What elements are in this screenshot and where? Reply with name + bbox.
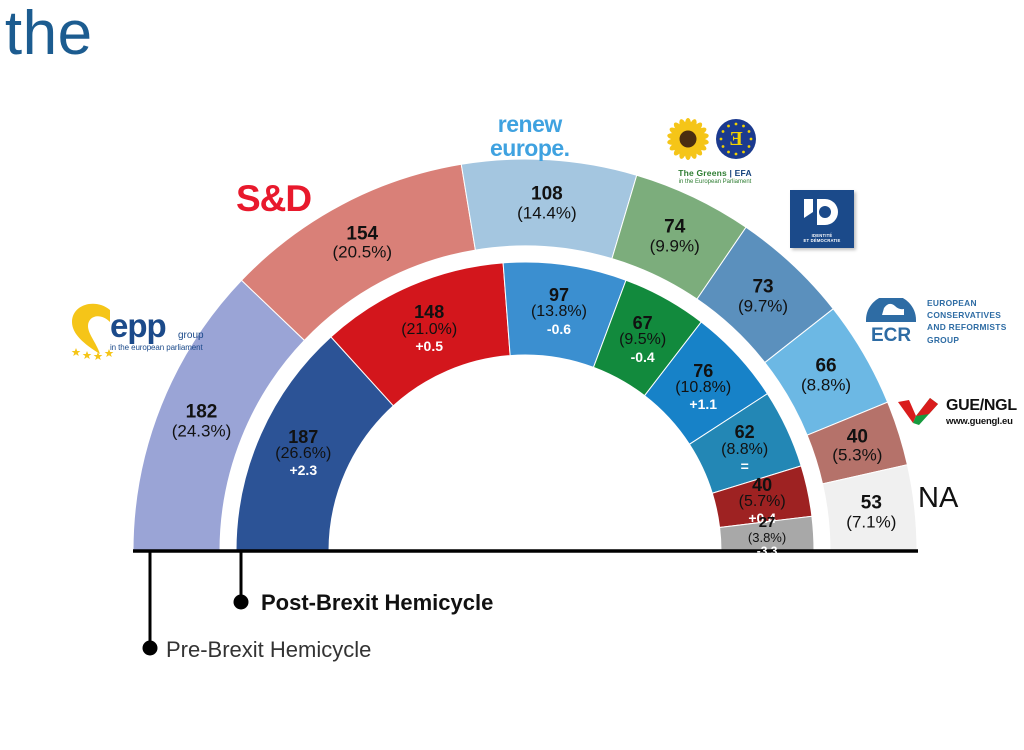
sd-logo: S&D <box>236 178 311 220</box>
ecr-logo: ECR EUROPEAN CONSERVATIVES AND REFORMIST… <box>862 297 1007 346</box>
ecr-logo-text: EUROPEAN CONSERVATIVES AND REFORMISTS GR… <box>927 297 1007 346</box>
na-label: NA <box>918 482 958 515</box>
gue-logo-text: GUE/NGL www.guengl.eu <box>946 398 1017 427</box>
segment-outer-renew-europe[interactable] <box>461 159 636 259</box>
renew-logo-line1: renew <box>490 112 570 136</box>
leader-dot-post <box>234 595 249 610</box>
greens-logo-title: The Greens | EFA <box>660 168 770 178</box>
epp-logo-group: group <box>178 330 204 341</box>
id-logo-caption: IDENTITÉET DÉMOCRATIE <box>790 233 854 244</box>
leader-dot-pre <box>143 641 158 656</box>
greens-sunflower-eu-icon: Ǝ <box>660 118 770 162</box>
epp-logo-subtitle: in the european parliament <box>110 343 203 352</box>
svg-text:ECR: ECR <box>871 325 911 344</box>
epp-logo: epp group in the european parliament <box>66 300 206 362</box>
legend-post-brexit: Post-Brexit Hemicycle <box>261 590 493 616</box>
gue-ngl-logo: GUE/NGL www.guengl.eu <box>896 396 1017 428</box>
greens-efa-logo: Ǝ The Greens | EFA in the European Parli… <box>660 118 770 185</box>
id-monogram-icon <box>790 190 854 234</box>
renew-europe-logo: renew europe. <box>490 112 570 160</box>
svg-text:Ǝ: Ǝ <box>729 128 742 150</box>
ecr-mark-icon: ECR <box>862 298 920 344</box>
legend-pre-brexit: Pre-Brexit Hemicycle <box>166 637 371 663</box>
chart-page: r the S&D renew europe. NA Ǝ <box>0 0 1024 750</box>
greens-logo-subtitle: in the European Parliament <box>660 179 770 185</box>
renew-logo-line2: europe. <box>490 136 570 160</box>
gue-checkmark-icon <box>896 396 940 428</box>
id-identity-democracy-logo: IDENTITÉET DÉMOCRATIE <box>790 190 854 248</box>
epp-logo-word: epp <box>110 307 166 345</box>
